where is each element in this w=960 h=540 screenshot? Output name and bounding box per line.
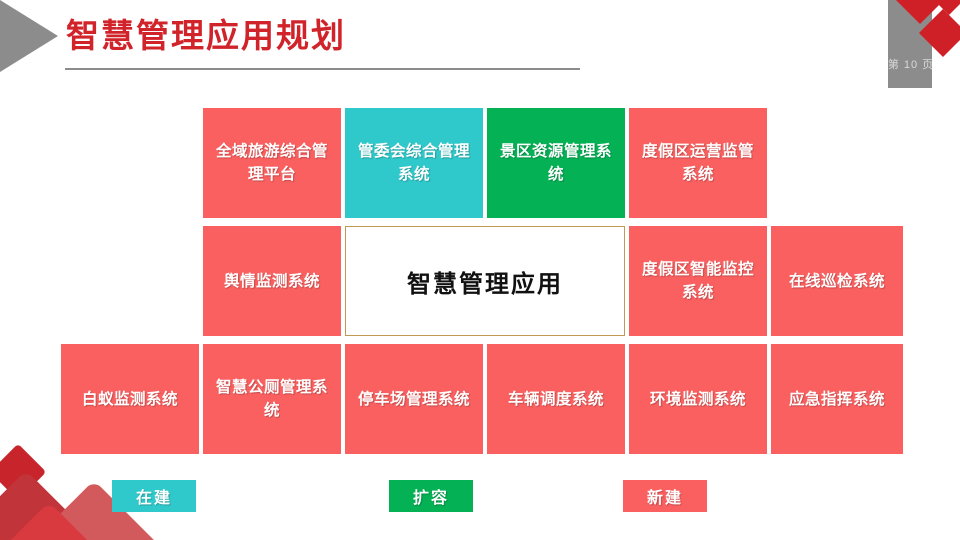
box-label: 度假区智能监控系统 xyxy=(637,258,759,304)
legend-chip-expansion[interactable]: 扩容 xyxy=(389,480,473,512)
box-dujiaqu-zhineng-jiankong-system[interactable]: 度假区智能监控系统 xyxy=(629,226,767,336)
box-dujiaqu-yunying-system[interactable]: 度假区运营监管系统 xyxy=(629,108,767,218)
legend-label: 在建 xyxy=(136,484,172,508)
box-baiyi-jiance-system[interactable]: 白蚁监测系统 xyxy=(61,344,199,454)
page-number: 第 10 页 xyxy=(880,57,942,73)
box-label: 全域旅游综合管理平台 xyxy=(211,140,333,186)
box-cheliang-diaodu-system[interactable]: 车辆调度系统 xyxy=(487,344,625,454)
box-label: 管委会综合管理系统 xyxy=(353,140,475,186)
center-hub-label: 智慧管理应用 xyxy=(407,264,563,299)
box-label: 舆情监测系统 xyxy=(224,270,320,293)
box-quanyu-lvyou-platform[interactable]: 全域旅游综合管理平台 xyxy=(203,108,341,218)
box-label: 应急指挥系统 xyxy=(789,388,885,411)
legend-label: 扩容 xyxy=(413,484,449,508)
box-label: 在线巡检系统 xyxy=(789,270,885,293)
box-yuqing-jiance-system[interactable]: 舆情监测系统 xyxy=(203,226,341,336)
page-title: 智慧管理应用规划 xyxy=(66,14,346,58)
box-label: 智慧公厕管理系统 xyxy=(211,376,333,422)
box-yingji-zhihui-system[interactable]: 应急指挥系统 xyxy=(771,344,903,454)
box-zhihui-gongce-system[interactable]: 智慧公厕管理系统 xyxy=(203,344,341,454)
box-guanweihui-system[interactable]: 管委会综合管理系统 xyxy=(345,108,483,218)
title-divider xyxy=(65,68,580,70)
legend-chip-under-construction[interactable]: 在建 xyxy=(112,480,196,512)
box-label: 停车场管理系统 xyxy=(358,388,470,411)
box-label: 白蚁监测系统 xyxy=(82,388,178,411)
box-label: 景区资源管理系统 xyxy=(495,140,617,186)
legend-label: 新建 xyxy=(647,484,683,508)
box-zaixian-xunjian-system[interactable]: 在线巡检系统 xyxy=(771,226,903,336)
box-tingchechang-system[interactable]: 停车场管理系统 xyxy=(345,344,483,454)
left-arrow-decoration xyxy=(0,0,60,74)
box-label: 度假区运营监管系统 xyxy=(637,140,759,186)
box-huanjing-jiance-system[interactable]: 环境监测系统 xyxy=(629,344,767,454)
box-label: 车辆调度系统 xyxy=(508,388,604,411)
slide-canvas: 第 10 页 智慧管理应用规划 全域旅游综合管理平台 管委会综合管理系统 景区资… xyxy=(0,0,960,540)
center-hub-smart-management[interactable]: 智慧管理应用 xyxy=(345,226,625,336)
box-jingqu-ziyuan-system[interactable]: 景区资源管理系统 xyxy=(487,108,625,218)
box-label: 环境监测系统 xyxy=(650,388,746,411)
legend-chip-new-build[interactable]: 新建 xyxy=(623,480,707,512)
